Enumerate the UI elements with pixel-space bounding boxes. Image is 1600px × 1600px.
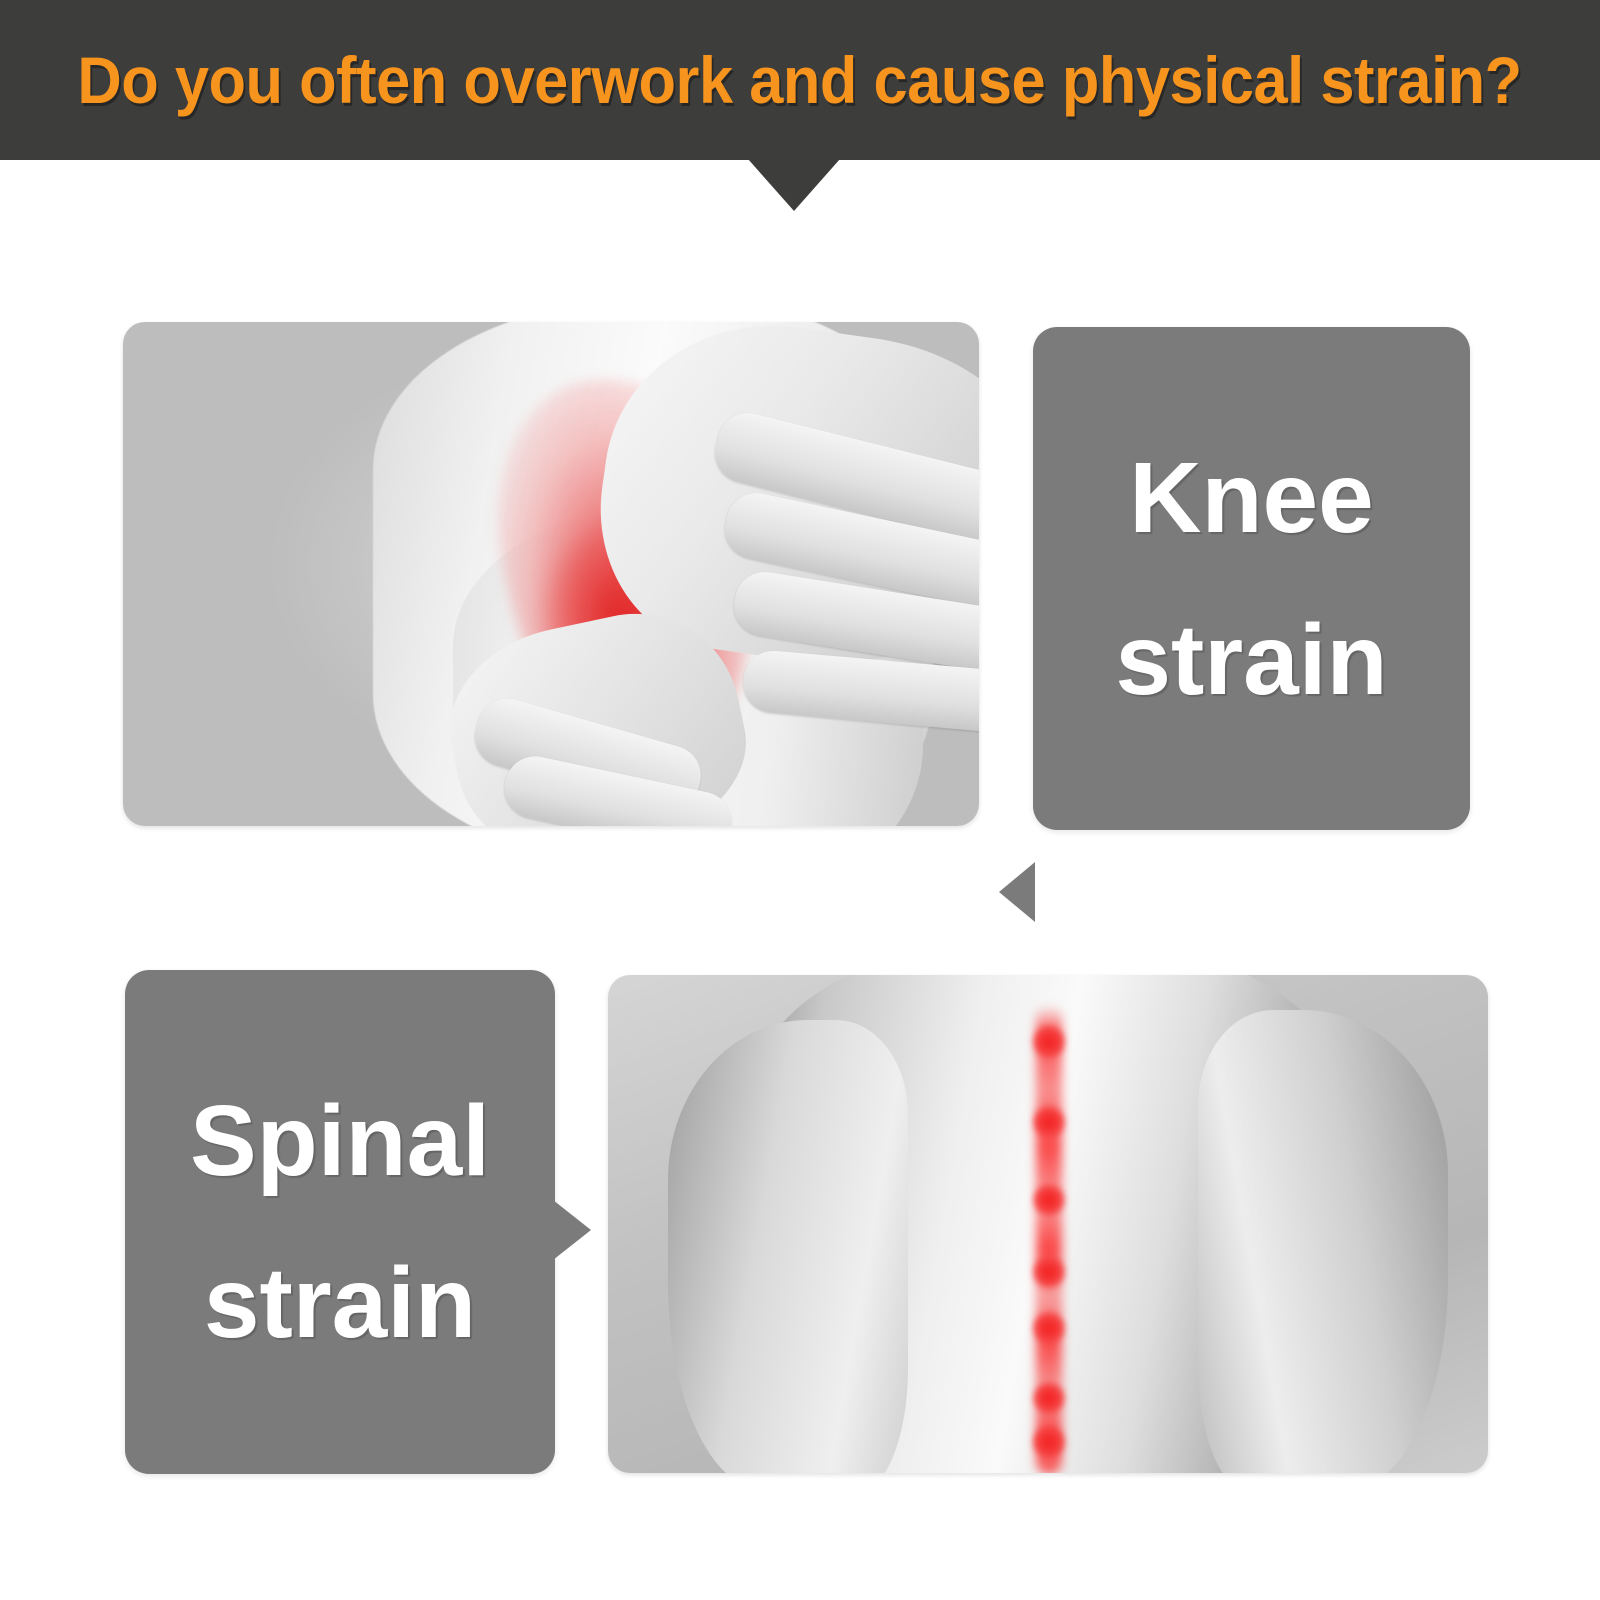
spinal-label-line-2: strain bbox=[204, 1222, 476, 1384]
header-speech-tail bbox=[748, 159, 840, 211]
vertebra-marker-5 bbox=[1032, 1311, 1066, 1345]
vertebra-marker-3 bbox=[1032, 1183, 1066, 1217]
vertebra-marker-2 bbox=[1032, 1105, 1066, 1139]
header-banner: Do you often overwork and cause physical… bbox=[0, 0, 1600, 160]
spinal-callout-tail bbox=[553, 1200, 591, 1260]
back-right-arm-shape bbox=[1198, 1010, 1448, 1473]
spine-pain-photo bbox=[608, 975, 1488, 1473]
page-title: Do you often overwork and cause physical… bbox=[78, 47, 1522, 113]
vertebra-marker-4 bbox=[1032, 1255, 1066, 1289]
knee-label-line-2: strain bbox=[1115, 579, 1387, 741]
knee-callout-tail bbox=[999, 862, 1035, 922]
back-left-arm-shape bbox=[668, 1020, 908, 1473]
knee-strain-callout: Knee strain bbox=[1033, 327, 1470, 830]
knee-label-line-1: Knee bbox=[1129, 417, 1374, 579]
vertebra-marker-1 bbox=[1032, 1025, 1066, 1059]
vertebra-marker-6 bbox=[1032, 1381, 1066, 1415]
vertebra-marker-7 bbox=[1032, 1425, 1066, 1459]
knee-pain-photo bbox=[123, 322, 979, 826]
spinal-label-line-1: Spinal bbox=[190, 1060, 490, 1222]
spinal-strain-callout: Spinal strain bbox=[125, 970, 555, 1474]
